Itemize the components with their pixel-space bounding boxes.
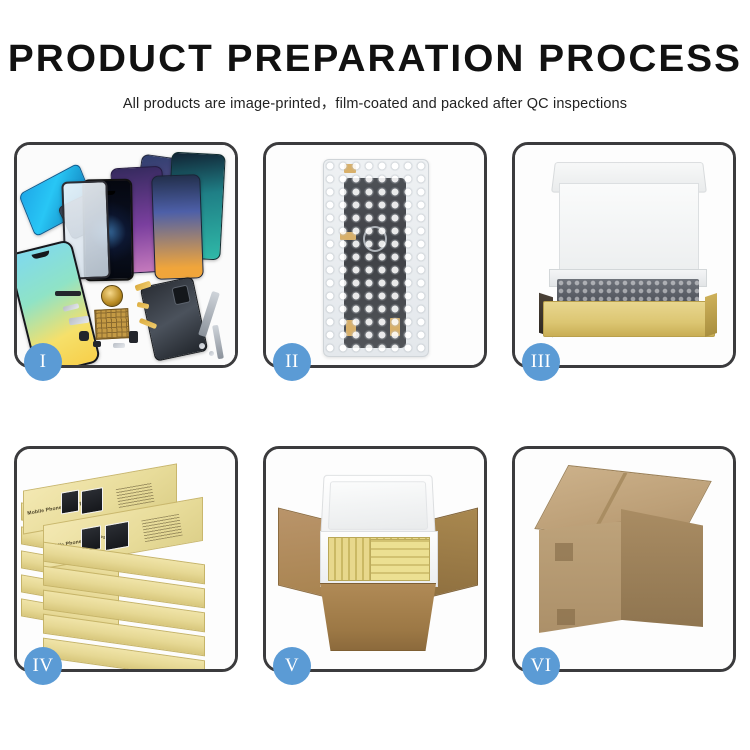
sim-tray-part <box>129 331 138 343</box>
tape-strip-top <box>344 164 356 173</box>
step-badge-6: VI <box>522 647 560 685</box>
panel-3-caption: Open yellow kraft box with white foam li… <box>515 145 516 146</box>
screw-set-part <box>113 343 125 348</box>
screw-part-b <box>209 351 214 356</box>
tape-strip-mid <box>340 232 356 240</box>
box-stack: Mobile Phone Spare Parts Mobile Phone Sp… <box>17 449 235 669</box>
box-front-face <box>543 301 715 337</box>
panel-5-caption: Open cardboard carton with white foam li… <box>266 449 267 450</box>
panel-2-image <box>266 145 484 365</box>
page-subtitle: All products are image-printed，film-coat… <box>0 92 750 113</box>
box-inner-wall <box>559 183 699 277</box>
step-badge-4: IV <box>24 647 62 685</box>
process-step-panel-5[interactable]: V Open cardboard carton with white foam … <box>263 446 487 672</box>
tape-strip-bottom-right <box>390 318 400 336</box>
step-badge-5: V <box>273 647 311 685</box>
camera-module-part <box>79 331 89 341</box>
panel-2-caption: Single LCD screen assembly sealed in bub… <box>266 145 267 146</box>
page-title: PRODUCT PREPARATION PROCESS <box>0 40 750 80</box>
top-box-phone-image-b <box>81 487 103 515</box>
process-panel-grid: I Assorted mobile phone screens, back co… <box>14 142 736 672</box>
battery-connector-part <box>55 291 81 296</box>
page-header: PRODUCT PREPARATION PROCESS All products… <box>0 0 750 113</box>
bubble-wrap-bag <box>323 159 429 357</box>
carton-left-face <box>539 521 625 633</box>
process-step-panel-2[interactable]: II Single LCD screen assembly sealed in … <box>263 142 487 368</box>
speaker-coil-part <box>101 285 123 307</box>
phone-display-orange <box>151 174 204 280</box>
button-part <box>93 341 101 347</box>
process-step-panel-3[interactable]: III Open yellow kraft box with white foa… <box>512 142 736 368</box>
tape-strip-bottom-left <box>346 320 356 336</box>
tape-patch-upper <box>555 543 573 561</box>
process-step-panel-1[interactable]: I Assorted mobile phone screens, back co… <box>14 142 238 368</box>
box-right-side <box>705 293 717 337</box>
foam-lid-open <box>320 475 435 537</box>
process-step-panel-4[interactable]: Mobile Phone Spare Parts Mobile Phone Sp… <box>14 446 238 672</box>
carton-front-face <box>312 583 444 651</box>
panel-6-image <box>515 449 733 669</box>
step-badge-1: I <box>24 343 62 381</box>
step-badge-2: II <box>273 343 311 381</box>
second-box-phone-image-b <box>105 521 129 551</box>
panel-6-caption: Sealed plain brown corrugated shipping c… <box>515 449 516 450</box>
panel-4-image: Mobile Phone Spare Parts Mobile Phone Sp… <box>17 449 235 669</box>
panel-5-image <box>266 449 484 669</box>
top-box-phone-image-a <box>61 489 79 514</box>
step-badge-3: III <box>522 343 560 381</box>
logic-board-part <box>94 308 130 340</box>
panel-1-image <box>17 145 235 365</box>
screw-part-a <box>199 343 205 349</box>
panel-3-image <box>515 145 733 365</box>
packed-yellow-boxes-b <box>370 539 430 581</box>
process-step-panel-6[interactable]: VI Sealed plain brown corrugated shippin… <box>512 446 736 672</box>
tape-patch-lower <box>557 609 575 625</box>
carton-right-face <box>621 509 703 627</box>
